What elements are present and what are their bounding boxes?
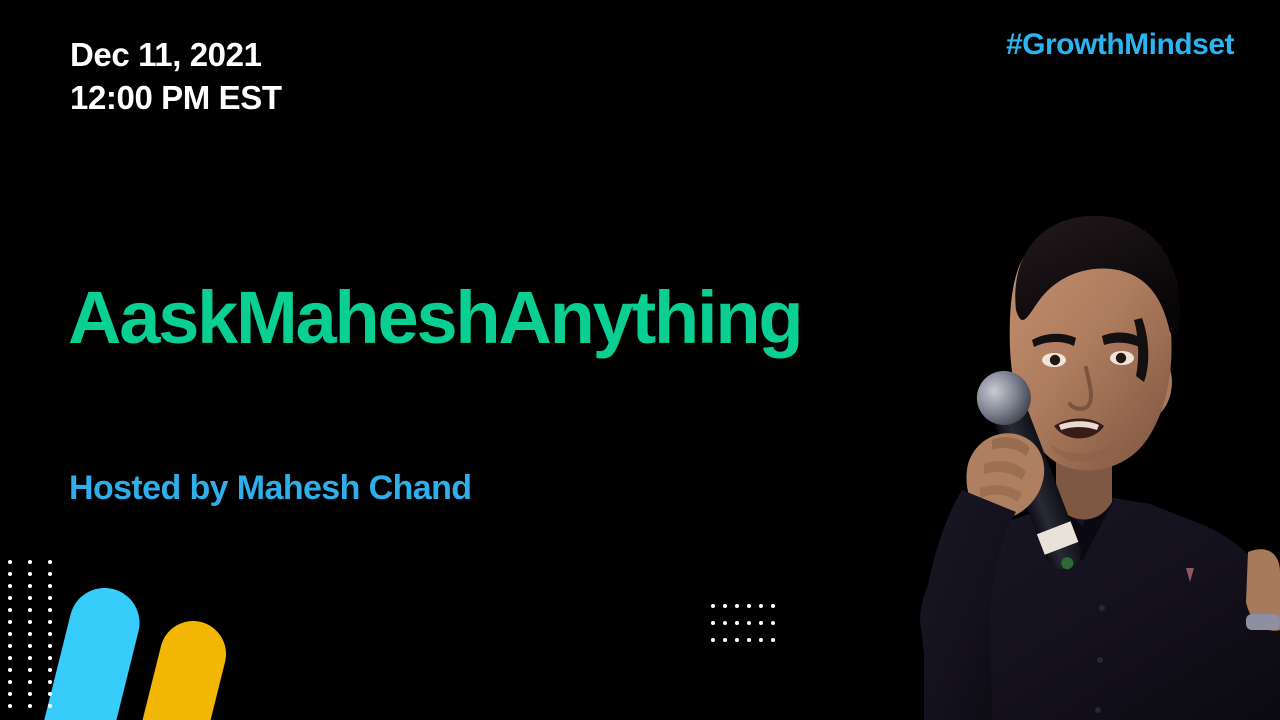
grid-dot bbox=[28, 584, 32, 588]
grid-dot bbox=[48, 680, 52, 684]
shirt-button-1 bbox=[1099, 605, 1105, 611]
grid-dot bbox=[735, 604, 739, 608]
grid-dot bbox=[48, 692, 52, 696]
photo-edge-fade bbox=[850, 190, 970, 720]
grid-dot bbox=[48, 668, 52, 672]
grid-dot bbox=[771, 604, 775, 608]
grid-dot bbox=[747, 604, 751, 608]
grid-dot bbox=[8, 644, 12, 648]
grid-dot bbox=[723, 604, 727, 608]
event-hashtag: #GrowthMindset bbox=[1006, 27, 1234, 63]
grid-dot bbox=[8, 632, 12, 636]
grid-dot bbox=[48, 608, 52, 612]
grid-dot bbox=[747, 638, 751, 642]
grid-dot bbox=[8, 608, 12, 612]
grid-dot bbox=[48, 644, 52, 648]
grid-dot bbox=[759, 621, 763, 625]
shirt-button-3 bbox=[1095, 707, 1101, 713]
dot-grid-left bbox=[8, 560, 68, 716]
wristwatch bbox=[1246, 614, 1280, 630]
page-title: AaskMaheshAnything bbox=[68, 275, 801, 361]
grid-dot bbox=[28, 620, 32, 624]
grid-dot bbox=[711, 621, 715, 625]
event-datetime: Dec 11, 2021 12:00 PM EST bbox=[70, 33, 282, 119]
grid-dot bbox=[735, 638, 739, 642]
dot-grid-center bbox=[711, 604, 783, 655]
grid-dot bbox=[8, 668, 12, 672]
shirt-button-2 bbox=[1097, 657, 1103, 663]
grid-dot bbox=[735, 621, 739, 625]
grid-dot bbox=[8, 704, 12, 708]
event-time: 12:00 PM EST bbox=[70, 76, 282, 119]
pupil-right bbox=[1116, 353, 1126, 363]
pupil-left bbox=[1050, 355, 1060, 365]
grid-dot bbox=[28, 668, 32, 672]
grid-dot bbox=[711, 638, 715, 642]
grid-dot bbox=[28, 632, 32, 636]
grid-dot bbox=[8, 656, 12, 660]
grid-dot bbox=[8, 584, 12, 588]
grid-dot bbox=[8, 620, 12, 624]
grid-dot bbox=[28, 608, 32, 612]
grid-dot bbox=[723, 621, 727, 625]
grid-dot bbox=[747, 621, 751, 625]
grid-dot bbox=[28, 656, 32, 660]
grid-dot bbox=[48, 632, 52, 636]
event-date: Dec 11, 2021 bbox=[70, 33, 282, 76]
grid-dot bbox=[48, 656, 52, 660]
event-promo-slide: Dec 11, 2021 12:00 PM EST #GrowthMindset… bbox=[0, 0, 1280, 720]
grid-dot bbox=[8, 560, 12, 564]
grid-dot bbox=[759, 604, 763, 608]
grid-dot bbox=[28, 560, 32, 564]
grid-dot bbox=[48, 572, 52, 576]
host-label: Hosted by Mahesh Chand bbox=[69, 466, 471, 510]
grid-dot bbox=[711, 604, 715, 608]
grid-dot bbox=[8, 680, 12, 684]
grid-dot bbox=[48, 584, 52, 588]
grid-dot bbox=[771, 621, 775, 625]
grid-dot bbox=[8, 572, 12, 576]
grid-dot bbox=[8, 596, 12, 600]
grid-dot bbox=[759, 638, 763, 642]
grid-dot bbox=[48, 596, 52, 600]
grid-dot bbox=[48, 560, 52, 564]
grid-dot bbox=[28, 680, 32, 684]
speaker-photo bbox=[850, 190, 1280, 720]
grid-dot bbox=[771, 638, 775, 642]
grid-dot bbox=[28, 596, 32, 600]
grid-dot bbox=[48, 704, 52, 708]
grid-dot bbox=[28, 644, 32, 648]
grid-dot bbox=[28, 692, 32, 696]
speaker-illustration bbox=[850, 190, 1280, 720]
grid-dot bbox=[8, 692, 12, 696]
grid-dot bbox=[48, 620, 52, 624]
grid-dot bbox=[28, 704, 32, 708]
grid-dot bbox=[723, 638, 727, 642]
grid-dot bbox=[28, 572, 32, 576]
